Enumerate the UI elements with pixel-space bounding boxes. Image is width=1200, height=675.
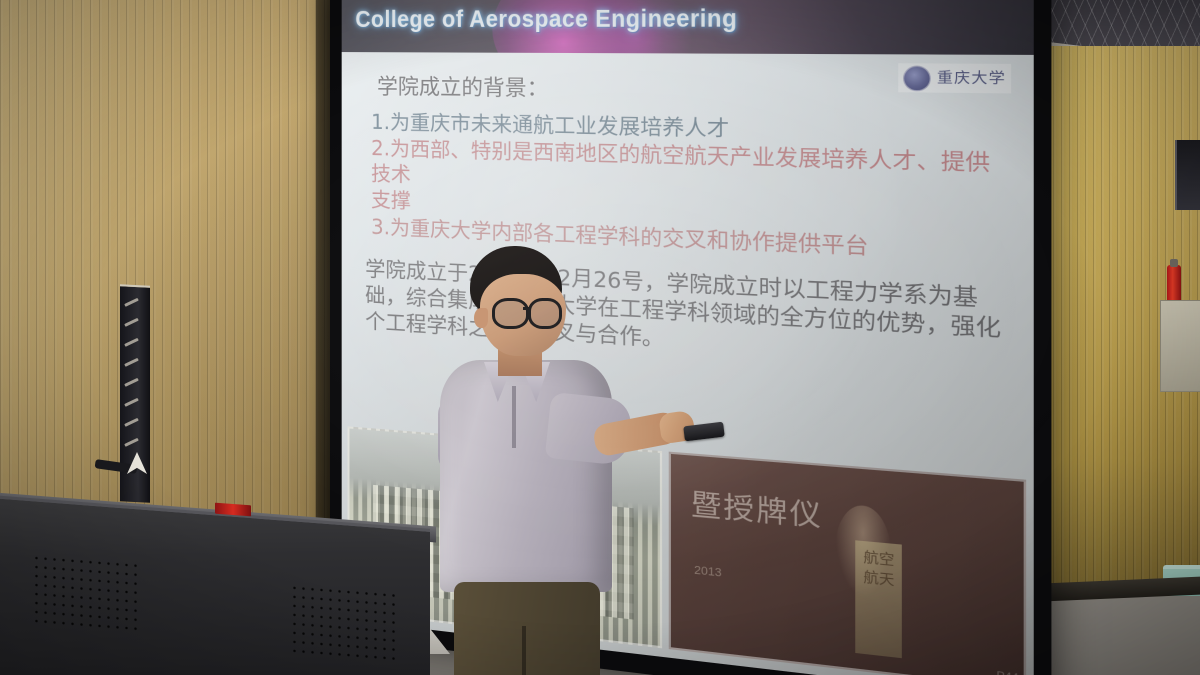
fire-extinguisher-icon <box>1167 265 1181 305</box>
glasses-icon <box>492 298 568 324</box>
presenter-pants-seam <box>522 626 526 675</box>
slide-header: College of Aerospace Engineering <box>342 0 1034 55</box>
glasses-lens-left <box>492 298 529 329</box>
glasses-lens-right <box>528 298 562 329</box>
ceremony-photo-caption: 暨授牌仪 <box>691 481 824 535</box>
wall-monitor <box>1175 140 1200 210</box>
ceremony-photo: 暨授牌仪 航空航天 2013 P44 <box>669 452 1026 675</box>
presenter-shirt-placket <box>512 386 516 448</box>
ceremony-photo-year: 2013 <box>694 564 721 580</box>
wall-cabinet <box>1160 300 1200 392</box>
presenter <box>398 246 648 675</box>
lecture-hall-scene: College of Aerospace Engineering 重庆大学 学院… <box>0 0 1200 675</box>
ceremony-photo-banner: 航空航天 <box>856 541 902 658</box>
podium-speaker-grille-left <box>32 553 142 633</box>
slide-title: College of Aerospace Engineering <box>355 4 737 33</box>
slide-corner-number: P44 <box>996 670 1018 675</box>
podium-speaker-grille-right <box>290 583 400 663</box>
slide-heading: 学院成立的背景： <box>377 70 1011 109</box>
presenter-pants <box>454 582 600 675</box>
presenter-ear <box>474 308 488 328</box>
